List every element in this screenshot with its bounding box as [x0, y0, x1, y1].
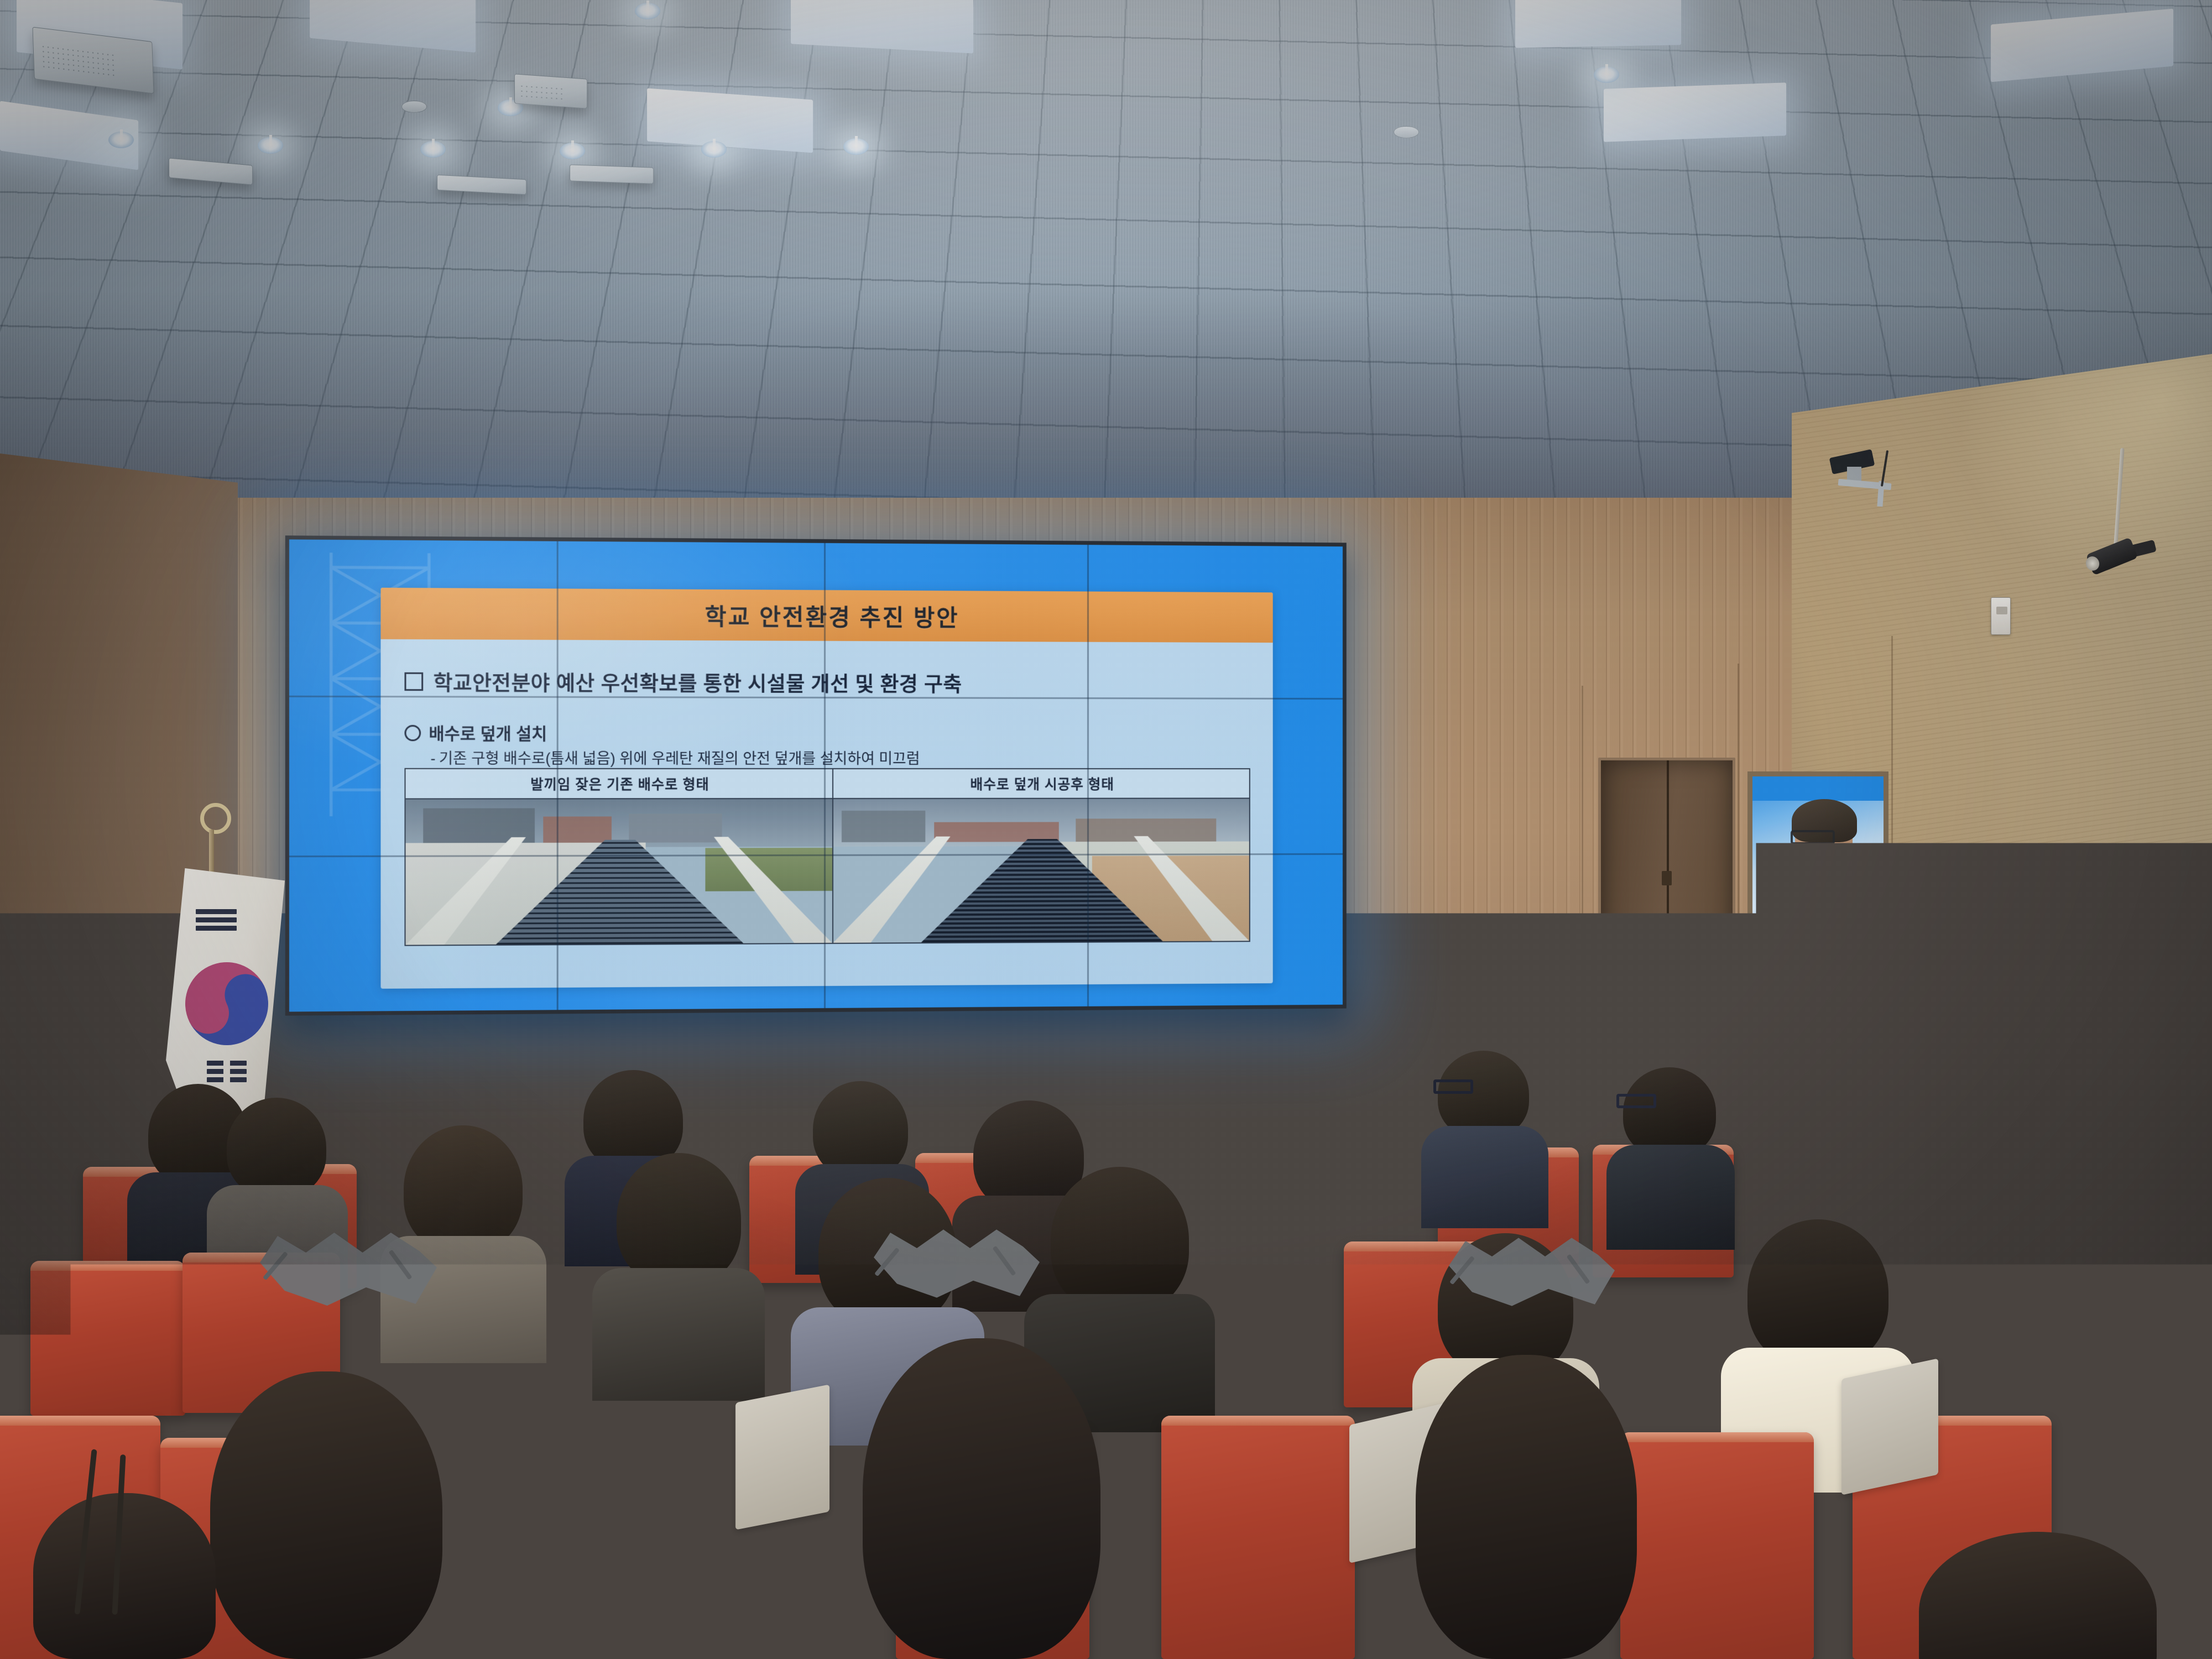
- hair-clip: [1449, 1233, 1615, 1311]
- person-hair: [2046, 1040, 2145, 1135]
- person-hair: [1623, 1067, 1716, 1157]
- photo-building: [629, 813, 722, 842]
- video-wall-display[interactable]: 학교 안전환경 추진 방안 학교안전분야 예산 우선확보를 통한 시설물 개선 …: [285, 535, 1347, 1015]
- hair-clip: [874, 1225, 1040, 1302]
- slide-photo-cell: 발끼임 잦은 기존 배수로 형태: [406, 769, 833, 945]
- spotlight-rod: [2113, 448, 2124, 552]
- slide-photo-caption-right: 배수로 덮개 시공후 형태: [833, 769, 1249, 799]
- slide-photo-after: [833, 799, 1249, 942]
- person-shoulders: [592, 1268, 765, 1401]
- glasses-icon: [1433, 1079, 1473, 1094]
- dash-bullet-icon: -: [431, 750, 436, 766]
- slide-title-bar: 학교 안전환경 추진 방안: [380, 588, 1272, 643]
- slide-heading-text: 학교안전분야 예산 우선확보를 통한 시설물 개선 및 환경 구축: [434, 666, 962, 698]
- auditorium-scene: 학교 안전환경 추진 방안 학교안전분야 예산 우선확보를 통한 시설물 개선 …: [0, 0, 2212, 1659]
- photo-building: [842, 811, 926, 842]
- seat-side-panel: [735, 1384, 830, 1530]
- hair-clip-body: [1449, 1233, 1615, 1311]
- slide-heading-row: 학교안전분야 예산 우선확보를 통한 시설물 개선 및 환경 구축: [404, 666, 1250, 698]
- hair-clip-body: [874, 1225, 1040, 1302]
- person-hair: [1747, 1219, 1888, 1368]
- seat[interactable]: [30, 1261, 185, 1416]
- slide-section-row: 배수로 덮개 설치: [404, 720, 1250, 745]
- videowall-seam-vertical: [824, 539, 826, 1012]
- slide-title: 학교 안전환경 추진 방안: [705, 598, 959, 633]
- door-hinge: [1662, 1020, 1672, 1035]
- person-hair: [227, 1098, 326, 1197]
- person-hair: [1991, 1230, 2129, 1377]
- slide-photo-caption-left: 발끼임 잦은 기존 배수로 형태: [406, 769, 832, 800]
- wall-spotlight-icon: [2085, 448, 2162, 581]
- square-bullet-icon: [404, 672, 423, 690]
- slide-photo-cell: 배수로 덮개 시공후 형태: [833, 769, 1249, 943]
- slide-section-text: 배수로 덮개 설치: [429, 720, 547, 745]
- wall-seam: [1738, 664, 1739, 1250]
- person-shoulders: [1421, 1126, 1548, 1228]
- seat[interactable]: [1620, 1432, 1814, 1659]
- videowall-seam-vertical: [1087, 541, 1089, 1010]
- slide-photo-before: [406, 799, 832, 945]
- presentation-slide: 학교 안전환경 추진 방안 학교안전분야 예산 우선확보를 통한 시설물 개선 …: [380, 588, 1272, 989]
- wall-seam: [1582, 686, 1583, 1250]
- slide-detail-line-1: 기존 구형 배수로(틈새 넓음) 위에 우레탄 재질의 안전 덮개를 설치하여 …: [439, 750, 920, 767]
- photo-building: [543, 817, 612, 846]
- videowall-seam-vertical: [557, 538, 559, 1014]
- slide-photo-table: 발끼임 잦은 기존 배수로 형태 배수로 덮개 시공후 형태: [404, 768, 1250, 946]
- camera-cable: [1881, 450, 1888, 487]
- flag-trigram-gon: [207, 1061, 247, 1086]
- hair-clip: [260, 1228, 437, 1311]
- flag-trigram-geon: [196, 909, 237, 934]
- person-hair: [1438, 1051, 1529, 1138]
- hair-clip-body: [260, 1228, 437, 1311]
- glasses-icon: [1616, 1094, 1656, 1108]
- seat-side-panel: [1841, 1358, 1938, 1495]
- person-hair: [210, 1371, 442, 1659]
- flagpole-finial-icon: [200, 803, 231, 834]
- light-switch[interactable]: [1991, 597, 2011, 635]
- person-hair: [617, 1153, 741, 1286]
- person-hair: [33, 1493, 216, 1659]
- person-hair: [863, 1338, 1100, 1659]
- person-shoulders: [2027, 1123, 2166, 1233]
- cctv-camera-icon: [1830, 453, 1902, 514]
- door-hinge: [1662, 871, 1672, 885]
- monitor-screen-topbar: [1752, 776, 1884, 801]
- person-hair: [813, 1081, 908, 1178]
- circle-bullet-icon: [404, 725, 421, 741]
- person-hair: [1051, 1167, 1189, 1313]
- person-shoulders: [1606, 1145, 1735, 1250]
- glasses-icon: [1791, 830, 1835, 844]
